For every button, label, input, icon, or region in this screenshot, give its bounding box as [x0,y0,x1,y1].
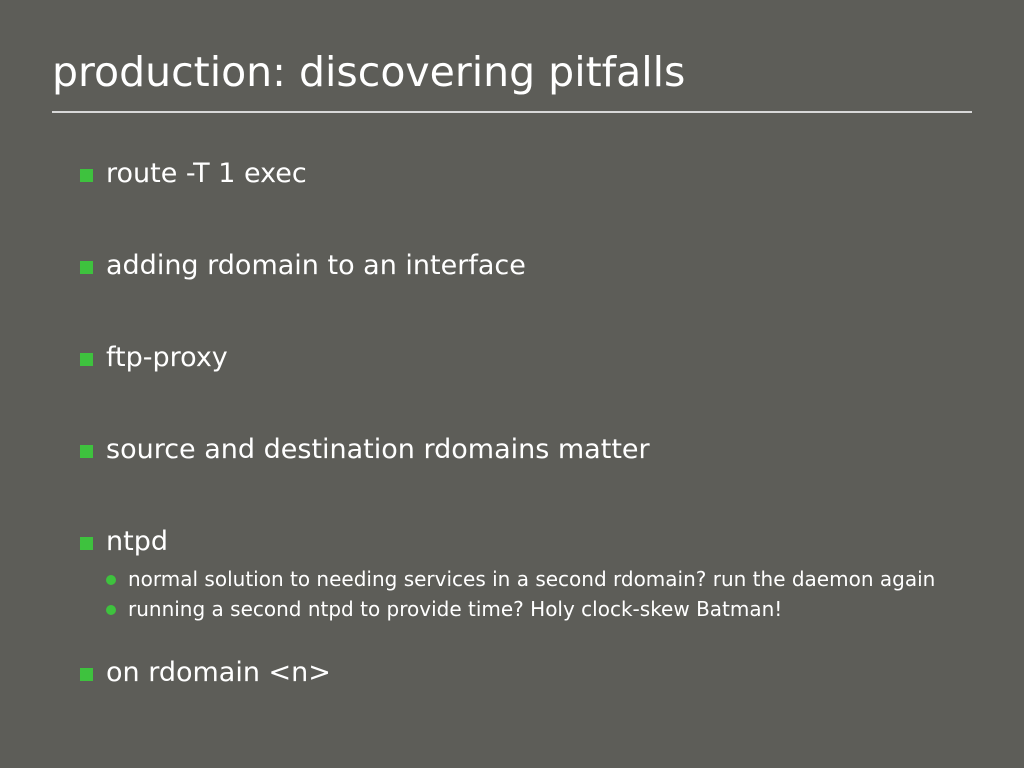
list-item: adding rdomain to an interface [78,250,978,282]
square-bullet-icon [80,445,93,458]
sub-list: normal solution to needing services in a… [78,566,978,623]
sub-list-item: running a second ntpd to provide time? H… [78,596,978,623]
list-item-label: route -T 1 exec [106,158,307,189]
list-item-label: source and destination rdomains matter [106,434,650,465]
sub-list-item-label: normal solution to needing services in a… [128,567,935,591]
square-bullet-icon [80,169,93,182]
list-item: ntpd [78,526,978,558]
slide: production: discovering pitfalls route -… [0,0,1024,768]
sub-list-item: normal solution to needing services in a… [78,566,978,593]
slide-body: route -T 1 exec adding rdomain to an int… [78,158,978,689]
dot-bullet-icon [106,605,116,615]
list-item-label: ntpd [106,526,168,557]
list-item: source and destination rdomains matter [78,434,978,466]
dot-bullet-icon [106,575,116,585]
list-item-label: adding rdomain to an interface [106,250,526,281]
list-item: on rdomain <n> [78,657,978,689]
list-item: ftp-proxy [78,342,978,374]
title-divider [52,111,972,113]
square-bullet-icon [80,261,93,274]
sub-list-item-label: running a second ntpd to provide time? H… [128,597,782,621]
square-bullet-icon [80,537,93,550]
list-item-label: on rdomain <n> [106,657,331,688]
list-item: route -T 1 exec [78,158,978,190]
list-item-label: ftp-proxy [106,342,228,373]
square-bullet-icon [80,353,93,366]
square-bullet-icon [80,668,93,681]
page-title: production: discovering pitfalls [52,48,972,96]
